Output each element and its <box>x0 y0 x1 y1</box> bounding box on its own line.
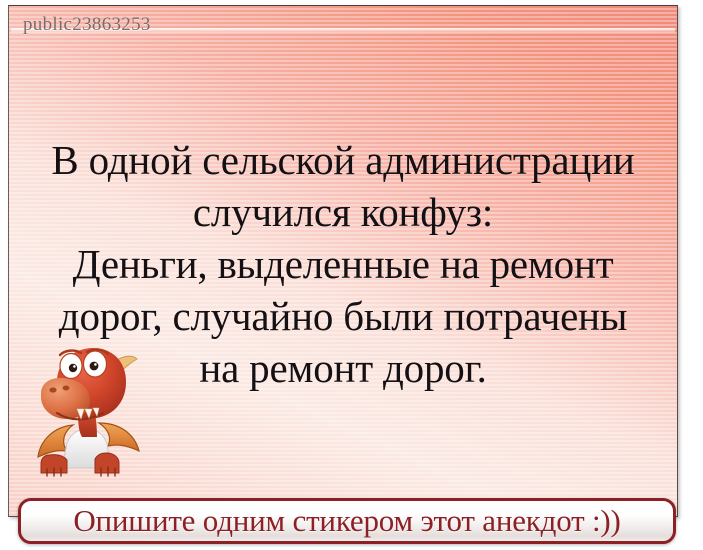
dragon-mouth <box>57 413 103 419</box>
watermark-label: public23863253 <box>23 14 151 36</box>
joke-card: public23863253 В одной сельской админист… <box>8 5 678 517</box>
joke-line-5: на ремонт дорог. <box>19 342 667 394</box>
joke-line-4: дорог, случайно были потрачены <box>19 290 667 342</box>
prompt-banner-label: Опишите одним стикером этот анекдот :)) <box>73 504 620 538</box>
joke-text-block: В одной сельской администрации случился … <box>19 134 667 394</box>
joke-line-2: случился конфуз: <box>19 186 667 238</box>
screenshot-root: public23863253 В одной сельской админист… <box>0 0 703 550</box>
dragon-neck <box>78 411 97 437</box>
dragon-wings <box>38 423 139 457</box>
prompt-banner-button[interactable]: Опишите одним стикером этот анекдот :)) <box>18 498 676 544</box>
joke-line-1: В одной сельской администрации <box>19 134 667 186</box>
dragon-hands <box>41 453 119 473</box>
dragon-claws <box>47 467 115 476</box>
dragon-teeth <box>77 408 99 419</box>
joke-line-3: Деньги, выделенные на ремонт <box>19 238 667 290</box>
dragon-shirt <box>62 429 111 468</box>
